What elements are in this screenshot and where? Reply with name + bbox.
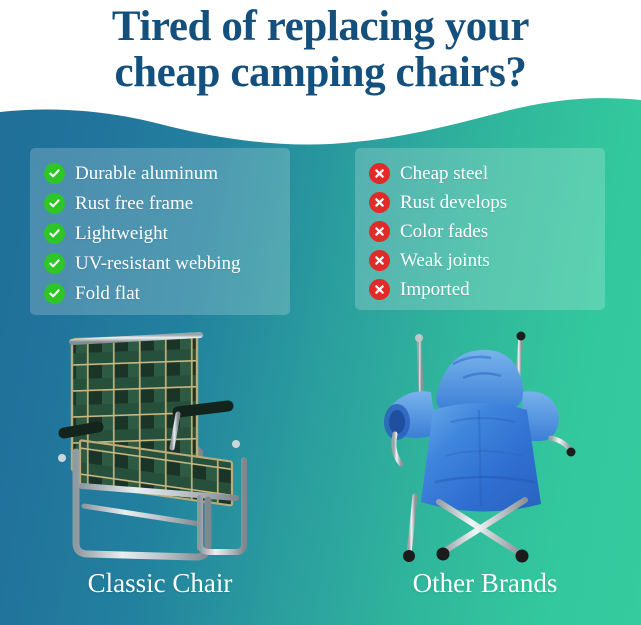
- cons-panel: Cheap steel Rust develops Color fades We…: [355, 148, 605, 310]
- classic-chair-image: [50, 328, 265, 563]
- x-circle-icon: [369, 250, 390, 271]
- other-brand-chair-image: [375, 330, 590, 565]
- list-item-label: Rust develops: [400, 192, 507, 213]
- list-item-label: Imported: [400, 279, 470, 300]
- x-circle-icon: [369, 279, 390, 300]
- list-item: Rust develops: [369, 191, 595, 213]
- cons-list: Cheap steel Rust develops Color fades We…: [369, 162, 595, 300]
- list-item: Fold flat: [44, 282, 280, 304]
- infographic-canvas: Tired of replacing your cheap camping ch…: [0, 0, 641, 625]
- list-item: Rust free frame: [44, 192, 280, 214]
- list-item: Durable aluminum: [44, 162, 280, 184]
- list-item-label: Durable aluminum: [75, 163, 218, 184]
- list-item-label: Cheap steel: [400, 163, 488, 184]
- classic-chair-caption: Classic Chair: [0, 568, 320, 599]
- list-item-label: Color fades: [400, 221, 488, 242]
- list-item-label: Fold flat: [75, 283, 140, 304]
- list-item-label: Weak joints: [400, 250, 490, 271]
- list-item: Lightweight: [44, 222, 280, 244]
- check-circle-icon: [44, 253, 65, 274]
- list-item: UV-resistant webbing: [44, 252, 280, 274]
- list-item-label: Rust free frame: [75, 193, 193, 214]
- check-circle-icon: [44, 163, 65, 184]
- pros-list: Durable aluminum Rust free frame Lightwe…: [44, 162, 280, 304]
- list-item: Cheap steel: [369, 162, 595, 184]
- check-circle-icon: [44, 283, 65, 304]
- other-brands-caption: Other Brands: [330, 568, 640, 599]
- x-circle-icon: [369, 192, 390, 213]
- header-wave-divider: [0, 0, 641, 170]
- list-item: Imported: [369, 278, 595, 300]
- list-item-label: Lightweight: [75, 223, 168, 244]
- pros-panel: Durable aluminum Rust free frame Lightwe…: [30, 148, 290, 315]
- list-item-label: UV-resistant webbing: [75, 253, 241, 274]
- list-item: Weak joints: [369, 249, 595, 271]
- check-circle-icon: [44, 223, 65, 244]
- x-circle-icon: [369, 163, 390, 184]
- x-circle-icon: [369, 221, 390, 242]
- list-item: Color fades: [369, 220, 595, 242]
- check-circle-icon: [44, 193, 65, 214]
